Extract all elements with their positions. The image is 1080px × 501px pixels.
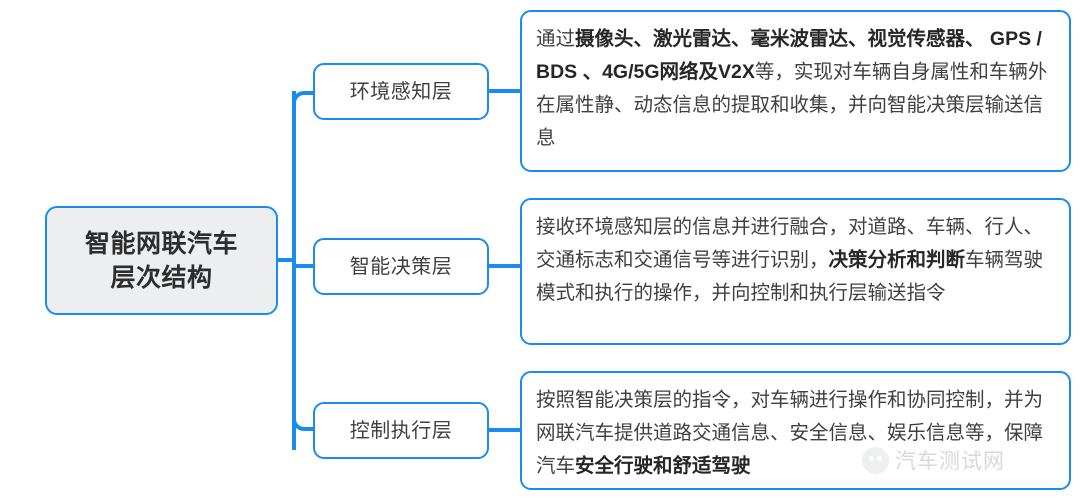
description-node-text: 通过摄像头、激光雷达、毫米波雷达、视觉传感器、 GPS / BDS 、4G/5G… [536,23,1053,155]
layer-node-label: 智能决策层 [350,254,453,280]
description-node-text: 接收环境感知层的信息并进行融合，对道路、车辆、行人、交通标志和交通信号等进行识别… [536,211,1053,310]
layer-node-perception[interactable]: 环境感知层 [313,63,489,120]
description-node-control[interactable]: 按照智能决策层的指令，对车辆进行操作和协同控制，并为网联汽车提供道路交通信息、安… [520,371,1071,490]
connector-layer-0-to-description [487,89,522,93]
layer-node-label: 控制执行层 [350,418,453,444]
root-node[interactable]: 智能网联汽车 层次结构 [45,206,278,315]
connector-layer-1-to-description [487,264,522,268]
description-node-perception[interactable]: 通过摄像头、激光雷达、毫米波雷达、视觉传感器、 GPS / BDS 、4G/5G… [520,10,1071,172]
description-node-text: 按照智能决策层的指令，对车辆进行操作和协同控制，并为网联汽车提供道路交通信息、安… [536,384,1053,483]
connector-layer-2-to-description [487,428,522,432]
connector-vertical-spine [292,91,296,450]
root-node-label: 智能网联汽车 层次结构 [85,227,238,295]
layer-node-label: 环境感知层 [350,79,453,105]
connector-corner-top [292,91,314,119]
description-node-decision[interactable]: 接收环境感知层的信息并进行融合，对道路、车辆、行人、交通标志和交通信号等进行识别… [520,198,1071,345]
layer-node-decision[interactable]: 智能决策层 [313,238,489,295]
layer-node-control[interactable]: 控制执行层 [313,402,489,459]
diagram-canvas: 智能网联汽车 层次结构 环境感知层 智能决策层 控制执行层 通过摄像头、激光雷达… [0,0,1080,501]
